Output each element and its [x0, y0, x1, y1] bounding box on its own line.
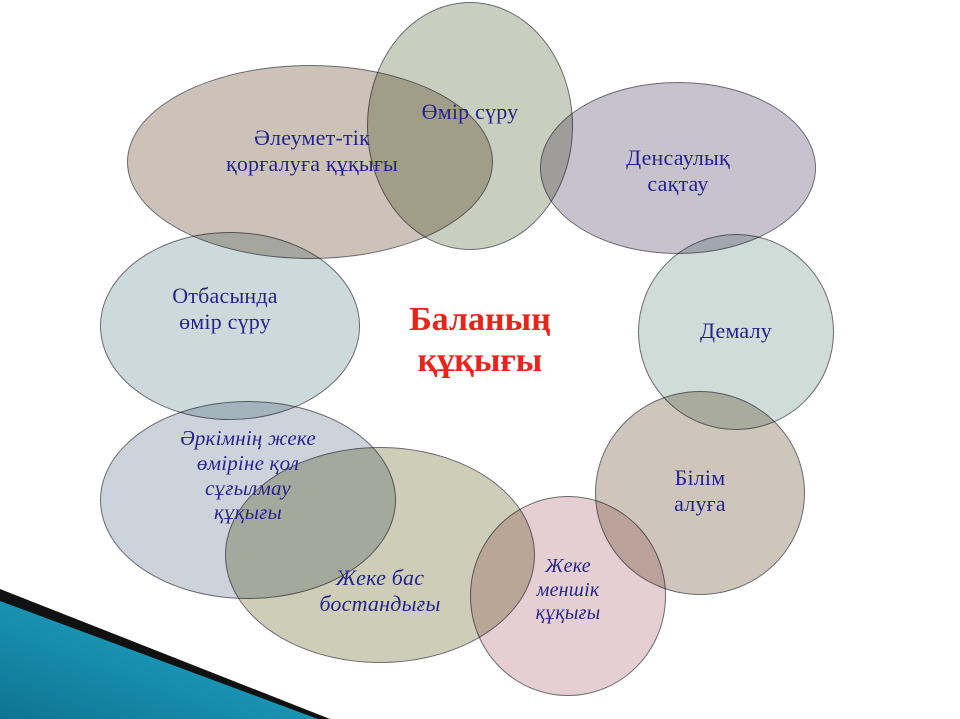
ellipse-densaulyk-saktau — [540, 82, 816, 254]
ellipse-jeke-omirine-kol-sugylmau — [100, 401, 396, 599]
slide-canvas: Өмір сүру Денсаулық сақтау Демалу Білім … — [0, 0, 960, 719]
ellipse-aleumettik-korgaluga — [127, 65, 493, 259]
ellipse-otbasynda-omir-suru — [100, 232, 360, 420]
child-rights-venn-diagram: Өмір сүру Денсаулық сақтау Демалу Білім … — [0, 0, 960, 719]
